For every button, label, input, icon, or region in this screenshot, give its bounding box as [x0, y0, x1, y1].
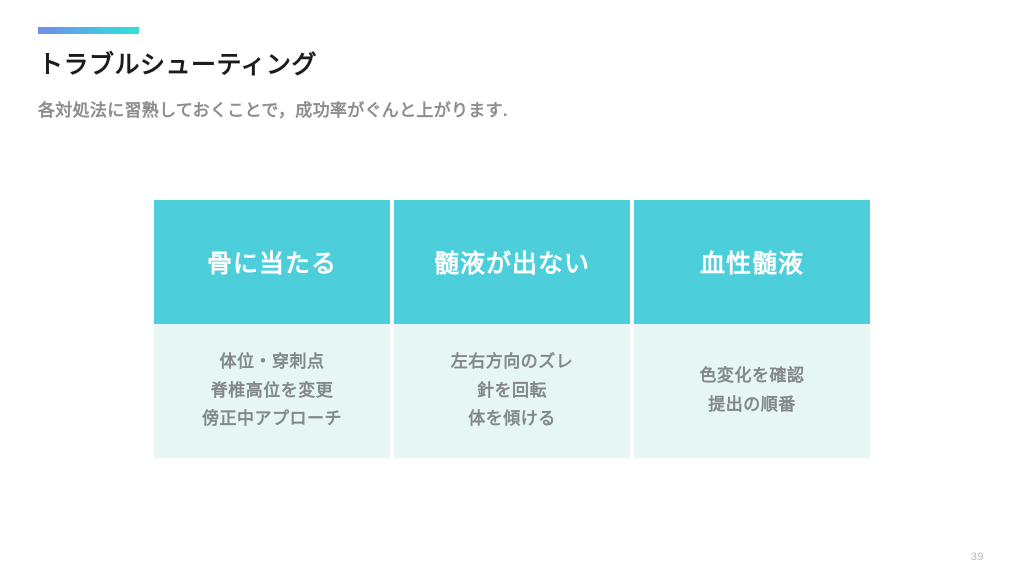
accent-bar: [38, 27, 139, 34]
page-title: トラブルシューティング: [38, 50, 317, 80]
card-line: 体位・穿刺点: [220, 350, 325, 375]
page-subtitle: 各対処法に習熟しておくことで，成功率がぐんと上がります.: [38, 100, 508, 122]
card-heading-label: 血性髄液: [700, 244, 804, 280]
card-line: 提出の順番: [708, 393, 796, 418]
card-line: 針を回転: [477, 379, 547, 404]
card-line: 左右方向のズレ: [451, 350, 574, 375]
card-line: 傍正中アプローチ: [202, 407, 342, 432]
card-body-bloody-csf: 色変化を確認 提出の順番: [634, 324, 870, 458]
troubleshooting-card-group: 骨に当たる 体位・穿刺点 脊椎高位を変更 傍正中アプローチ 髄液が出ない 左右方…: [154, 200, 870, 458]
page-number: 39: [971, 551, 984, 563]
card-line: 脊椎高位を変更: [211, 379, 334, 404]
card-header-bone-contact: 骨に当たる: [154, 200, 390, 324]
card-body-no-csf-flow: 左右方向のズレ 針を回転 体を傾ける: [394, 324, 630, 458]
card-body-bone-contact: 体位・穿刺点 脊椎高位を変更 傍正中アプローチ: [154, 324, 390, 458]
card-no-csf-flow[interactable]: 髄液が出ない 左右方向のズレ 針を回転 体を傾ける: [394, 200, 630, 458]
card-header-bloody-csf: 血性髄液: [634, 200, 870, 324]
card-line: 体を傾ける: [468, 407, 556, 432]
card-bloody-csf[interactable]: 血性髄液 色変化を確認 提出の順番: [634, 200, 870, 458]
card-heading-label: 骨に当たる: [207, 244, 337, 280]
card-header-no-csf-flow: 髄液が出ない: [394, 200, 630, 324]
card-heading-label: 髄液が出ない: [434, 244, 590, 280]
card-line: 色変化を確認: [700, 364, 805, 389]
slide-root: トラブルシューティング 各対処法に習熟しておくことで，成功率がぐんと上がります.…: [0, 0, 1024, 576]
card-bone-contact[interactable]: 骨に当たる 体位・穿刺点 脊椎高位を変更 傍正中アプローチ: [154, 200, 390, 458]
